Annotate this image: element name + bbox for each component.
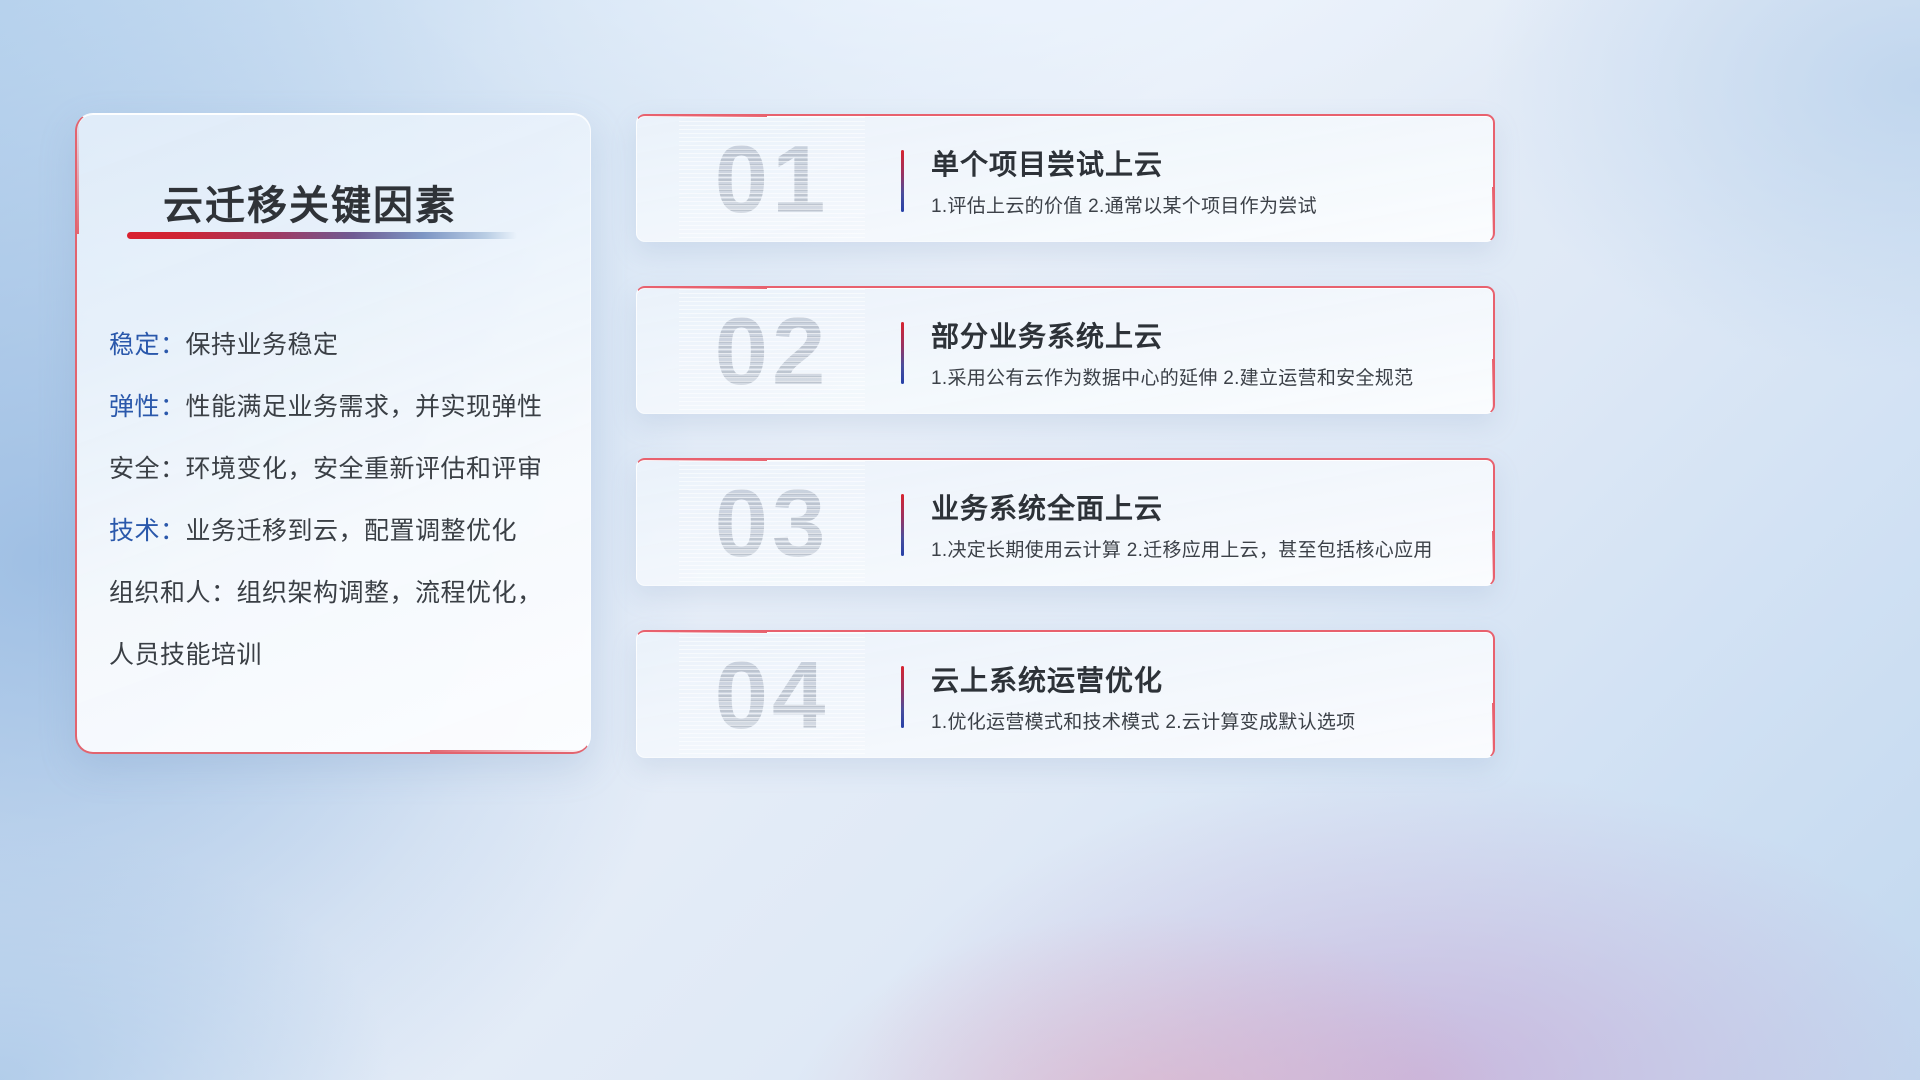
stage-description: 1.决定长期使用云计算 2.迁移应用上云，甚至包括核心应用 — [931, 535, 1433, 562]
card-accent-bottom — [430, 750, 590, 754]
card-accent-left — [75, 114, 79, 234]
card-accent-right — [1492, 703, 1495, 757]
card-accent-right — [1492, 359, 1495, 413]
page-title: 云迁移关键因素 — [163, 173, 457, 231]
stage-title: 部分业务系统上云 — [931, 315, 1163, 355]
list-item-text: 保持业务稳定 — [186, 331, 339, 359]
stage-divider-bar — [901, 494, 904, 556]
list-item-key: 稳定： — [109, 331, 186, 359]
stage-description: 1.评估上云的价值 2.通常以某个项目作为尝试 — [931, 191, 1317, 218]
stage-title: 单个项目尝试上云 — [931, 143, 1163, 183]
list-item: 弹性：性能满足业务需求，并实现弹性 — [109, 376, 570, 438]
stage-number-watermark: 02 — [679, 286, 865, 414]
list-item-key: 弹性： — [109, 393, 186, 421]
list-item-key: 技术： — [109, 517, 186, 545]
stage-description: 1.采用公有云作为数据中心的延伸 2.建立运营和安全规范 — [931, 363, 1413, 390]
list-item: 技术：业务迁移到云，配置调整优化 — [109, 500, 570, 562]
list-item: 组织和人：组织架构调整，流程优化， — [109, 562, 570, 624]
key-factors-card: 云迁移关键因素 稳定：保持业务稳定 弹性：性能满足业务需求，并实现弹性 安全：环… — [75, 113, 591, 754]
stage-title: 业务系统全面上云 — [931, 487, 1163, 527]
list-item-text: 性能满足业务需求，并实现弹性 — [186, 393, 543, 421]
card-accent-right — [1492, 531, 1495, 585]
stage-card-02[interactable]: 02 部分业务系统上云 1.采用公有云作为数据中心的延伸 2.建立运营和安全规范 — [636, 286, 1495, 414]
stage-number-watermark: 03 — [679, 458, 865, 586]
title-underline-gradient — [127, 232, 517, 239]
key-factors-list: 稳定：保持业务稳定 弹性：性能满足业务需求，并实现弹性 安全：环境变化，安全重新… — [109, 314, 570, 686]
stage-card-01[interactable]: 01 单个项目尝试上云 1.评估上云的价值 2.通常以某个项目作为尝试 — [636, 114, 1495, 242]
stage-title: 云上系统运营优化 — [931, 659, 1163, 699]
stage-divider-bar — [901, 150, 904, 212]
stage-card-03[interactable]: 03 业务系统全面上云 1.决定长期使用云计算 2.迁移应用上云，甚至包括核心应… — [636, 458, 1495, 586]
stage-divider-bar — [901, 666, 904, 728]
list-item: 安全：环境变化，安全重新评估和评审 — [109, 438, 570, 500]
list-item-text: 组织架构调整，流程优化， — [237, 579, 543, 607]
stage-number-watermark: 04 — [679, 630, 865, 758]
list-item: 人员技能培训 — [109, 624, 570, 686]
list-item-text: 环境变化，安全重新评估和评审 — [186, 455, 543, 483]
stage-description: 1.优化运营模式和技术模式 2.云计算变成默认选项 — [931, 707, 1355, 734]
stage-divider-bar — [901, 322, 904, 384]
list-item-key: 安全： — [109, 455, 186, 483]
stage-card-04[interactable]: 04 云上系统运营优化 1.优化运营模式和技术模式 2.云计算变成默认选项 — [636, 630, 1495, 758]
list-item: 稳定：保持业务稳定 — [109, 314, 570, 376]
list-item-text: 人员技能培训 — [109, 641, 262, 669]
stage-number-watermark: 01 — [679, 114, 865, 242]
list-item-text: 业务迁移到云，配置调整优化 — [186, 517, 518, 545]
card-accent-right — [1492, 187, 1495, 241]
slide-stage: 云迁移关键因素 稳定：保持业务稳定 弹性：性能满足业务需求，并实现弹性 安全：环… — [0, 0, 1920, 1080]
list-item-key: 组织和人： — [109, 579, 237, 607]
